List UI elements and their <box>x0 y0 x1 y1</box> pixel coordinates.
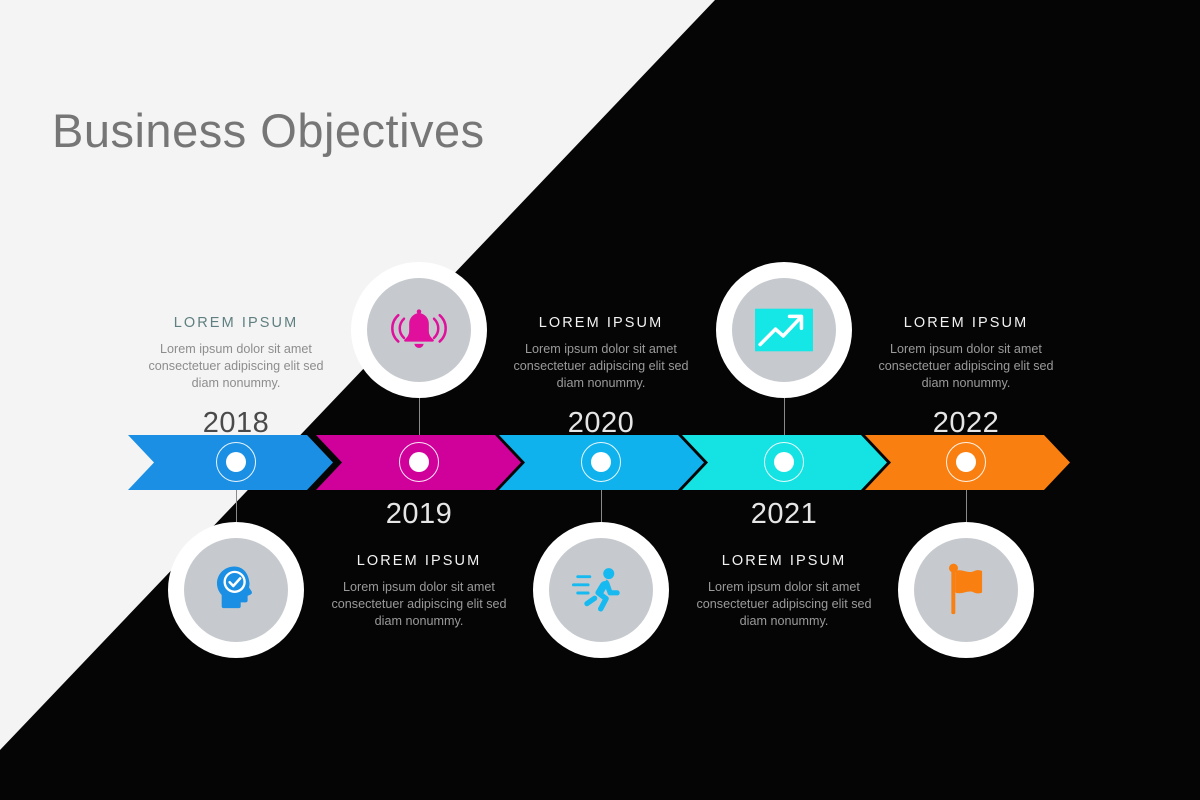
page-title: Business Objectives <box>52 103 485 158</box>
milestone-year: 2020 <box>501 408 701 440</box>
milestone-heading: LOREM IPSUM <box>501 315 701 332</box>
flag-icon <box>914 538 1018 642</box>
running-person-icon <box>549 538 653 642</box>
milestone-body: Lorem ipsum dolor sit amet consectetuer … <box>501 341 701 392</box>
milestone-year: 2018 <box>136 408 336 440</box>
milestone-icon-circle-2019[interactable] <box>351 262 487 398</box>
milestone-body: Lorem ipsum dolor sit amet consectetuer … <box>866 341 1066 392</box>
marker-dot-icon <box>774 452 794 472</box>
timeline-marker-2022[interactable] <box>946 442 986 482</box>
bell-ringing-icon <box>367 278 471 382</box>
milestone-heading: LOREM IPSUM <box>684 553 884 570</box>
milestone-icon-circle-2018[interactable] <box>168 522 304 658</box>
milestone-block-2018: LOREM IPSUMLorem ipsum dolor sit amet co… <box>136 315 336 440</box>
milestone-block-2020: LOREM IPSUMLorem ipsum dolor sit amet co… <box>501 315 701 440</box>
milestone-body: Lorem ipsum dolor sit amet consectetuer … <box>319 579 519 630</box>
infographic-canvas: Business Objectives <box>0 0 1200 800</box>
milestone-year: 2019 <box>319 499 519 531</box>
milestone-block-2021: 2021LOREM IPSUMLorem ipsum dolor sit ame… <box>684 499 884 630</box>
milestone-heading: LOREM IPSUM <box>319 553 519 570</box>
milestone-icon-circle-2021[interactable] <box>716 262 852 398</box>
milestone-body: Lorem ipsum dolor sit amet consectetuer … <box>684 579 884 630</box>
timeline-marker-2019[interactable] <box>399 442 439 482</box>
growth-chart-icon <box>732 278 836 382</box>
milestone-body: Lorem ipsum dolor sit amet consectetuer … <box>136 341 336 392</box>
marker-dot-icon <box>591 452 611 472</box>
milestone-icon-circle-2020[interactable] <box>533 522 669 658</box>
milestone-year: 2022 <box>866 408 1066 440</box>
timeline-marker-2018[interactable] <box>216 442 256 482</box>
milestone-block-2022: LOREM IPSUMLorem ipsum dolor sit amet co… <box>866 315 1066 440</box>
timeline-marker-2021[interactable] <box>764 442 804 482</box>
timeline-marker-2020[interactable] <box>581 442 621 482</box>
milestone-heading: LOREM IPSUM <box>866 315 1066 332</box>
milestone-heading: LOREM IPSUM <box>136 315 336 332</box>
head-check-icon <box>184 538 288 642</box>
milestone-block-2019: 2019LOREM IPSUMLorem ipsum dolor sit ame… <box>319 499 519 630</box>
marker-dot-icon <box>956 452 976 472</box>
milestone-year: 2021 <box>684 499 884 531</box>
marker-dot-icon <box>226 452 246 472</box>
marker-dot-icon <box>409 452 429 472</box>
milestone-icon-circle-2022[interactable] <box>898 522 1034 658</box>
